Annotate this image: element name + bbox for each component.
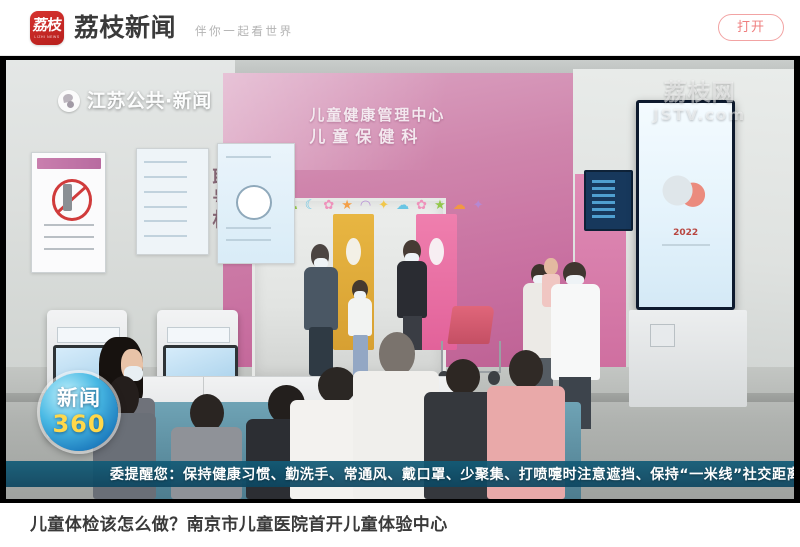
poster-line: [144, 206, 187, 208]
news-ticker-text: 委提醒您：保持健康习惯、勤洗手、常通风、戴口罩、少聚集、打喷嚏时注意遮挡、保持“…: [6, 464, 794, 484]
cloud-sticker-icon: ☁: [453, 198, 466, 211]
signage-line: [662, 244, 710, 246]
poster-line: [226, 227, 271, 229]
poster-line: [144, 235, 187, 237]
channel-watermark: 江苏公共·新闻: [58, 90, 212, 112]
poster-line: [226, 239, 271, 241]
poster-figure-icon: [63, 184, 73, 211]
rainbow-sticker-icon: ◠: [360, 198, 371, 211]
video-frame[interactable]: ★ ☁ ☾ ✿ ★ ◠ ✦ ☁ ✿ ★ ☁ ✦ 儿童健康管理中心 儿童保健科 取…: [6, 60, 794, 499]
person-head: [446, 359, 481, 396]
person-head: [509, 350, 544, 389]
scene-poster-warning: [31, 152, 106, 273]
signage-screen: 2022: [639, 103, 732, 308]
scene-counter: [629, 310, 747, 407]
star-sticker-icon: ★: [434, 198, 446, 211]
stroller-seat: [448, 306, 495, 344]
poster-caption-bar: [37, 158, 101, 169]
poster-line: [44, 224, 94, 226]
scene-poster-health-code: [217, 143, 295, 264]
brand[interactable]: 荔枝 LIZHI NEWS 荔枝新闻 伴你一起看世界: [30, 11, 294, 45]
scene-sticker-band: ★ ☁ ☾ ✿ ★ ◠ ✦ ☁ ✿ ★ ☁ ✦: [266, 185, 534, 225]
news-ticker: 委提醒您：保持健康习惯、勤洗手、常通风、戴口罩、少聚集、打喷嚏时注意遮挡、保持“…: [6, 461, 794, 487]
poster-line: [144, 191, 187, 193]
program-badge: 新闻 360: [40, 373, 118, 451]
logo-glyph: 荔枝: [32, 18, 62, 33]
scene-wall-sign: 儿童健康管理中心 儿童保健科: [309, 106, 445, 147]
scene-poster-notice: [136, 148, 209, 255]
poster-line: [226, 156, 271, 158]
poster-line: [44, 236, 94, 238]
open-app-button[interactable]: 打开: [718, 14, 784, 42]
channel-logo-icon: [58, 90, 80, 112]
moon-sticker-icon: ☾: [305, 198, 317, 211]
brand-slogan: 伴你一起看世界: [195, 23, 294, 39]
wall-sign-line2: 儿童保健科: [309, 126, 445, 147]
signage-illustration: [659, 164, 713, 217]
video-player[interactable]: ★ ☁ ☾ ✿ ★ ◠ ✦ ☁ ✿ ★ ☁ ✦ 儿童健康管理中心 儿童保健科 取…: [0, 56, 800, 503]
signage-year: 2022: [673, 228, 698, 238]
star-sticker-icon: ✦: [378, 198, 389, 211]
poster-line: [144, 161, 187, 163]
person-body: [304, 267, 338, 330]
flower-sticker-icon: ✿: [416, 198, 427, 211]
star-sticker-icon: ★: [341, 198, 353, 211]
cloud-sticker-icon: ☁: [396, 198, 409, 211]
logo-romaji: LIZHI NEWS: [34, 36, 59, 39]
program-badge-line2: 360: [52, 412, 105, 436]
person-head: [379, 332, 415, 375]
video-scene-image: ★ ☁ ☾ ✿ ★ ◠ ✦ ☁ ✿ ★ ☁ ✦ 儿童健康管理中心 儿童保健科 取…: [6, 60, 794, 499]
person-body: [348, 298, 372, 337]
brand-title: 荔枝新闻: [74, 15, 176, 40]
kiosk-header-label: [167, 327, 230, 343]
article-headline-bar: 儿童体检该怎么做？南京市儿童医院首开儿童体验中心: [0, 503, 800, 547]
flower-sticker-icon: ✿: [323, 198, 334, 211]
person-head: [318, 367, 356, 404]
scene-person-standing-adult: [302, 244, 343, 376]
scene-wall-monitor: [584, 170, 632, 231]
channel-watermark-label: 江苏公共·新闻: [87, 92, 212, 111]
poster-line: [144, 220, 187, 222]
poster-line: [144, 176, 187, 178]
program-badge-line1: 新闻: [57, 388, 101, 409]
poster-line: [44, 248, 94, 250]
star-sticker-icon: ✦: [473, 198, 484, 211]
lizhi-logo-icon[interactable]: 荔枝 LIZHI NEWS: [30, 11, 64, 45]
article-headline: 儿童体检该怎么做？南京市儿童医院首开儿童体验中心: [30, 514, 448, 536]
app-header: 荔枝 LIZHI NEWS 荔枝新闻 伴你一起看世界 打开: [0, 0, 800, 56]
digital-signage-display: 2022: [636, 100, 735, 311]
wall-sign-line1: 儿童健康管理中心: [309, 106, 445, 126]
person-body: [397, 261, 427, 318]
person-head: [190, 394, 224, 432]
health-code-icon: [236, 185, 272, 220]
